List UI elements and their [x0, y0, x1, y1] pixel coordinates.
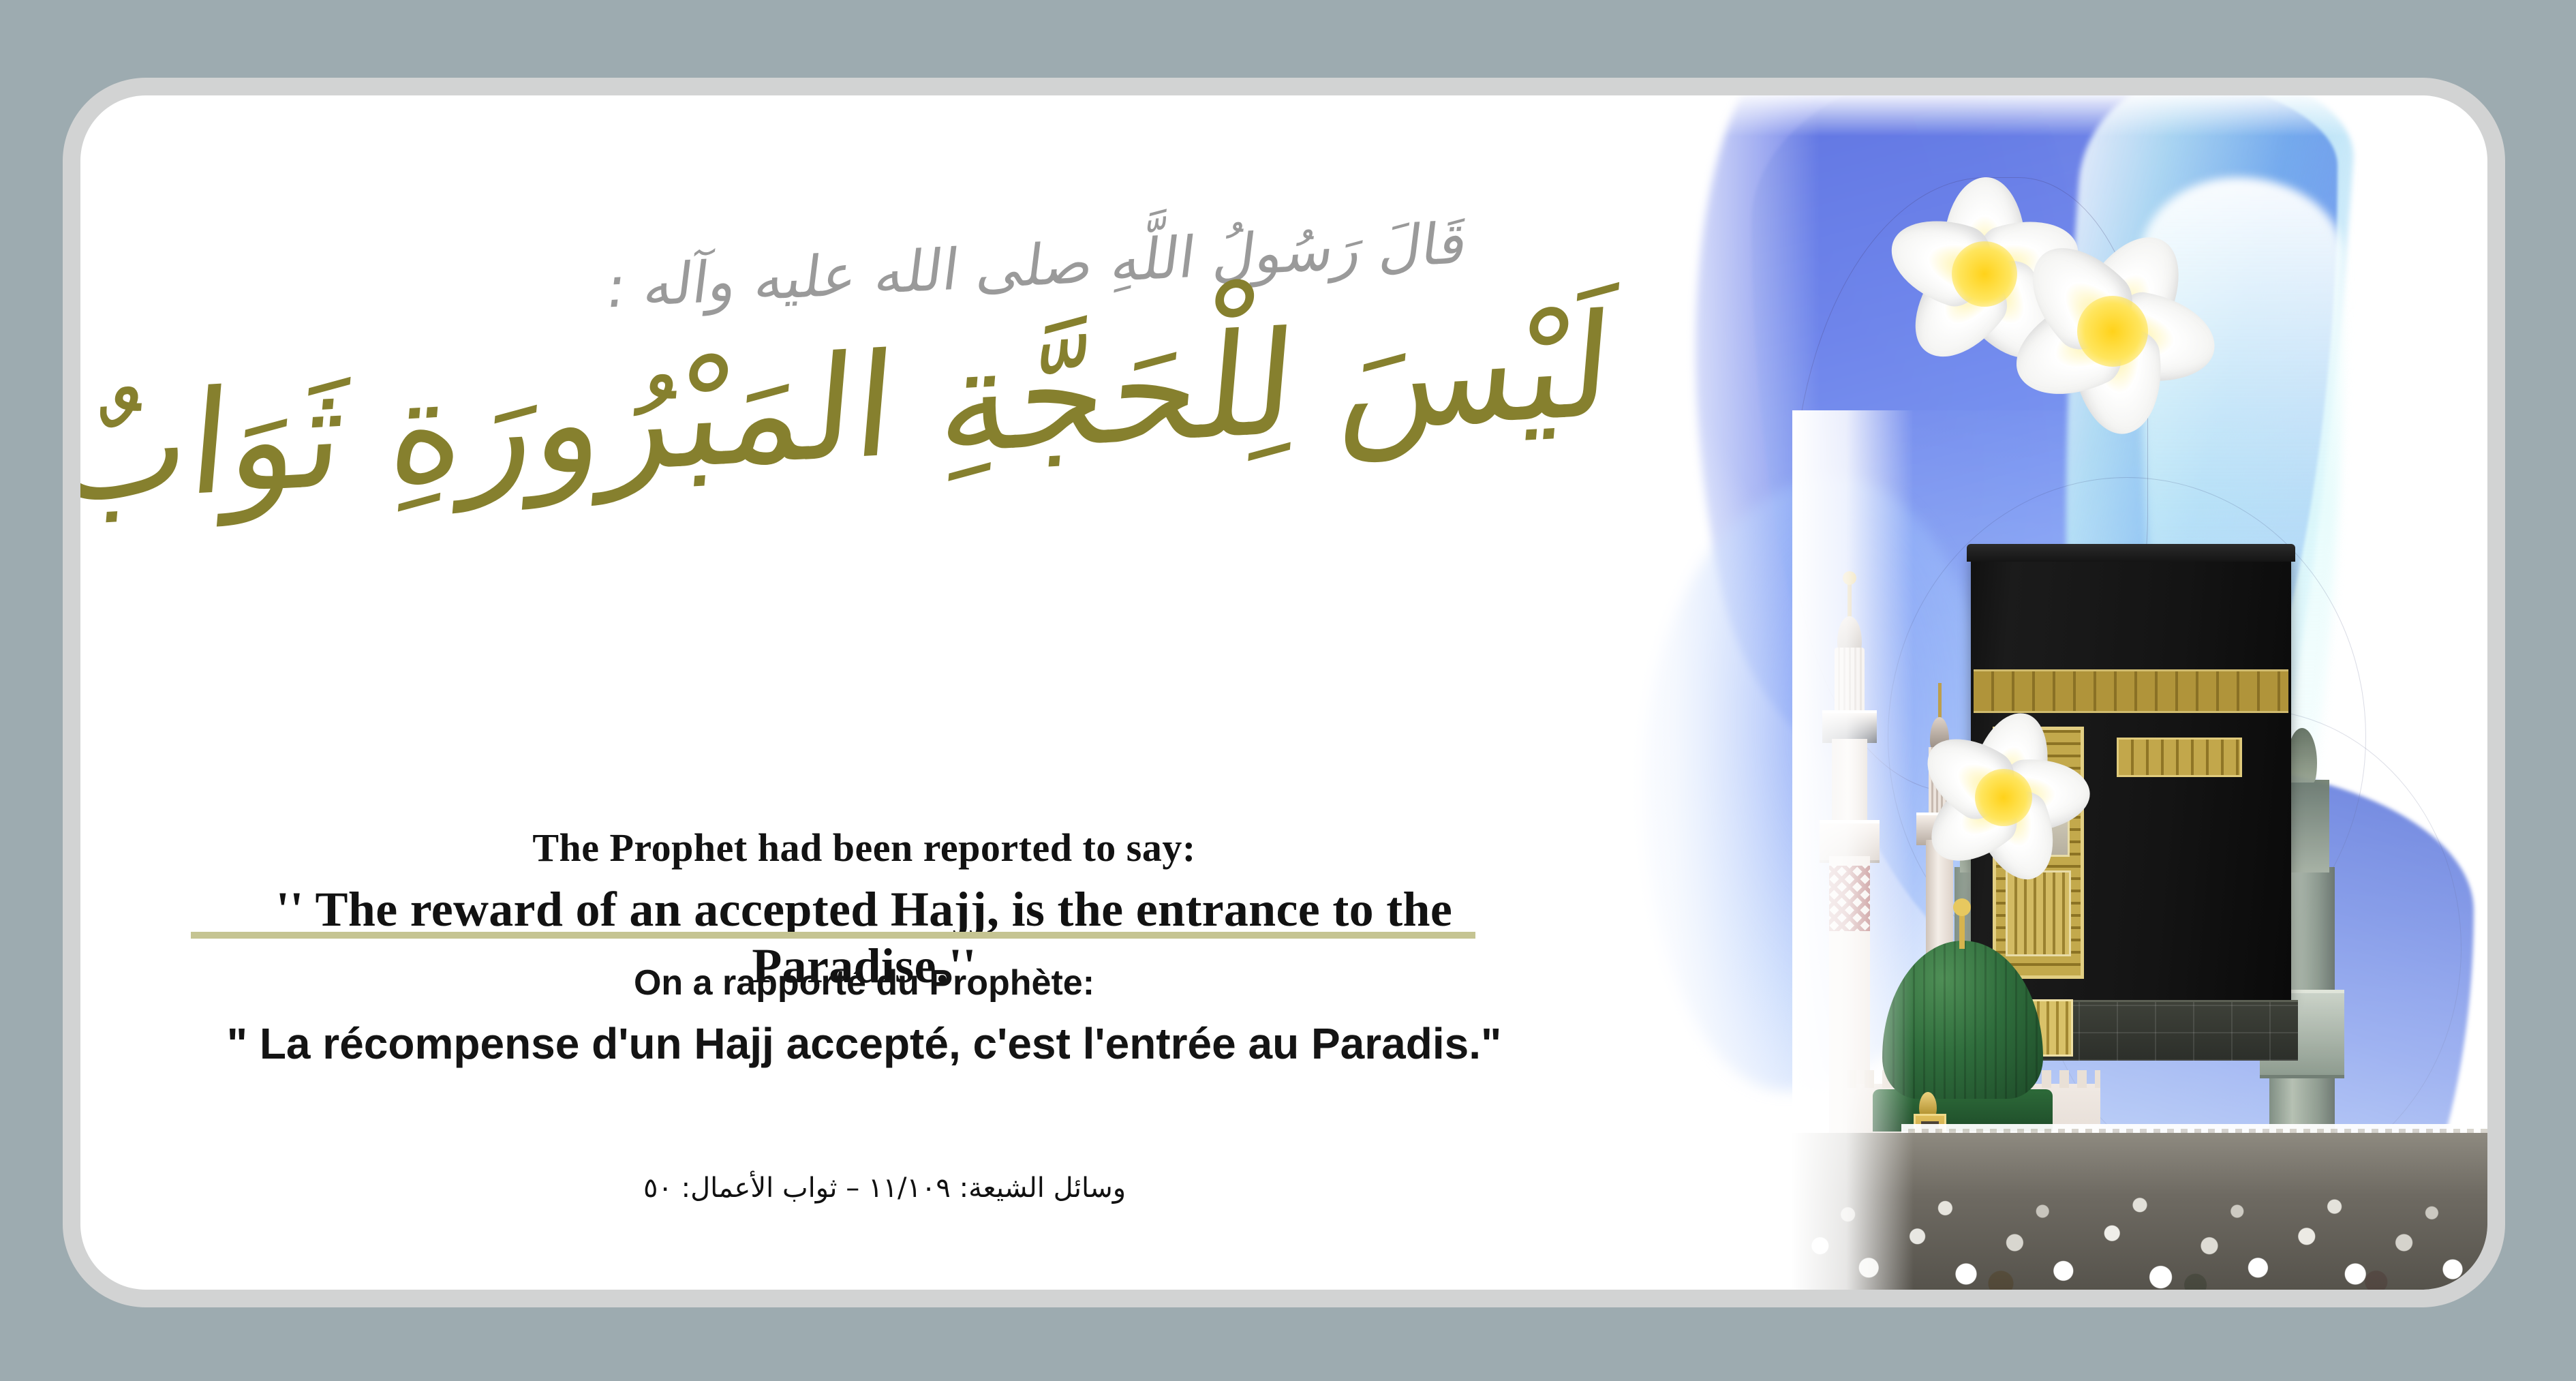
english-lead: The Prophet had been reported to say: [183, 825, 1546, 870]
thread-curve-2 [1888, 477, 2366, 997]
blue-swirl-shape-a [1604, 95, 2185, 826]
maqam-spire [2105, 1185, 2109, 1205]
green-dome-drum [1873, 1089, 2053, 1132]
plumeria-flower-lower-icon [1915, 709, 2092, 886]
thread-curve-3 [2038, 709, 2462, 1187]
thread-curve-1 [1792, 177, 2148, 792]
maqam-body [2083, 1241, 2137, 1290]
french-translation-block: On a rapporté du Prophète: " La récompen… [183, 962, 1546, 1069]
holy-sites-scene [1792, 410, 2487, 1290]
source-citation: وسائل الشيعة: ١١/١٠٩ – ثواب الأعمال: ٥٠ [80, 1172, 1689, 1204]
pilgrim-crowd-color-accents [1792, 1133, 2487, 1290]
haram-minaret-left-icon [1954, 867, 2020, 1249]
white-highlight-ribbon [2140, 177, 2344, 995]
hadith-main-arabic: لَيْسَ لِلْحَجَّةِ المَبْرُورَةِ ثَوَابٌ… [80, 264, 1621, 553]
blue-swirl-base [1751, 95, 2337, 982]
french-lead: On a rapporté du Prophète: [183, 962, 1546, 1003]
door-lower-panel [2006, 870, 2071, 956]
door-silver-panel [2007, 790, 2070, 857]
blue-swirl-shape-d [1642, 477, 1997, 1091]
kaaba-stone-base [1964, 1000, 2298, 1061]
kaaba-base-gold-door [2009, 999, 2073, 1057]
mid-white-minaret-icon [1915, 676, 1964, 1126]
kaaba-roof [1967, 544, 2295, 562]
plumeria-flower-upper-second-icon [2004, 222, 2222, 440]
mosque-facade [1847, 1084, 2100, 1208]
mosque-crenellation [1847, 1070, 2100, 1088]
gold-lantern-icon [1910, 1087, 1946, 1189]
scene-sky [1792, 410, 2487, 1290]
kiswa-calligraphy-band [1974, 669, 2288, 713]
pilgrim-crowd [1792, 1133, 2487, 1290]
tall-striped-minaret-icon [1817, 652, 1882, 1224]
green-dome-icon [1882, 941, 2043, 1099]
kaaba-icon [1971, 555, 2291, 1005]
mataf-railing [1901, 1124, 2487, 1156]
section-divider [191, 932, 1475, 939]
blue-swirl-lower [1956, 763, 2474, 1290]
plumeria-flower-upper-icon [1882, 172, 2087, 376]
text-column: قَالَ رَسُولُ اللَّهِ صلى الله عليه وآله… [80, 95, 1689, 1290]
haram-minaret-right-icon [2269, 867, 2335, 1249]
kiswa-gold-plaque [2117, 738, 2242, 777]
kaaba-gold-door [1993, 727, 2084, 979]
green-dome-finial [1959, 913, 1965, 949]
cyan-ribbon-shape [2016, 95, 2359, 1099]
masjid-an-nabawi-icon [1792, 622, 2106, 1290]
maqam-ibrahim-icon [2079, 1202, 2136, 1290]
scene-left-fade [1792, 410, 1914, 1290]
maqam-dome [2089, 1202, 2125, 1245]
hadith-card: قَالَ رَسُولُ اللَّهِ صلى الله عليه وآله… [80, 95, 2487, 1290]
french-quote: " La récompense d'un Hajj accepté, c'est… [183, 1018, 1546, 1069]
